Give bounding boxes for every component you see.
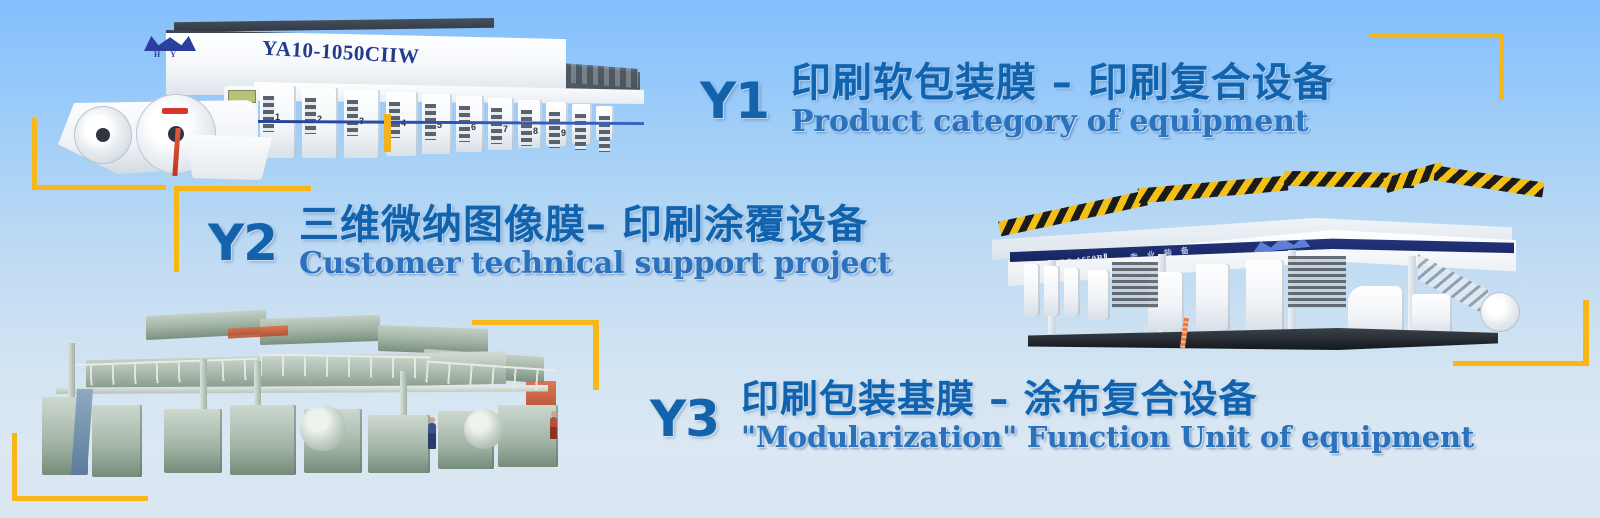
laminator-unit <box>1412 294 1452 334</box>
y3-text-column: 印刷包装基膜 – 涂布复合设备 "Modularization" Functio… <box>741 380 1474 452</box>
coater-drum <box>464 409 504 449</box>
press-roof-rail <box>174 18 494 32</box>
machine-photo-coating-line <box>28 305 573 490</box>
bracket-top-left-vertical <box>32 118 37 190</box>
laminator-unit <box>1196 264 1230 330</box>
laminator-rewind-roll <box>1480 292 1520 332</box>
laminator-unit <box>1024 264 1040 316</box>
machine-photo-laminating-machine: 专业装备 YATFG-1650BⅡ <box>988 168 1548 368</box>
press-logo-letters: HY <box>144 50 196 59</box>
y1-text-column: 印刷软包装膜 – 印刷复合设备 Product category of equi… <box>791 62 1334 138</box>
y2-chinese-headline: 三维微纳图像膜– 印刷涂覆设备 <box>299 204 891 246</box>
coater-worker <box>550 417 557 439</box>
y3-chinese-headline: 印刷包装基膜 – 涂布复合设备 <box>741 380 1474 420</box>
y2-text-column: 三维微纳图像膜– 印刷涂覆设备 Customer technical suppo… <box>299 204 891 280</box>
laminator-unit <box>1064 268 1080 316</box>
laminator-unit <box>1246 260 1284 332</box>
press-unit: 5 <box>422 94 452 154</box>
coater-section <box>368 415 430 473</box>
text-block-y1: Y1 印刷软包装膜 – 印刷复合设备 Product category of e… <box>700 62 1334 138</box>
bracket-mid-center-vertical <box>593 320 599 390</box>
bracket-top-right-horizontal <box>1370 33 1504 38</box>
press-yellow-marker <box>384 114 391 152</box>
coater-section <box>164 409 222 473</box>
laminator-roller-bank <box>1288 256 1346 308</box>
bracket-top-right-vertical <box>1499 33 1504 100</box>
coater-section <box>498 405 558 467</box>
text-block-y3: Y3 印刷包装基膜 – 涂布复合设备 "Modularization" Func… <box>650 380 1474 452</box>
coater-section <box>230 405 296 475</box>
laminator-roller-bank <box>1112 262 1158 308</box>
laminator-safety-rail <box>1434 165 1545 197</box>
laminator-unit <box>1044 266 1060 316</box>
machine-photo-printing-press: HY YA10-1050CIIW 1 2 3 4 5 6 7 8 9 <box>58 8 618 176</box>
press-material-roll <box>74 106 132 164</box>
laminator-base-frame <box>1028 328 1498 350</box>
y1-code-label: Y1 <box>700 76 769 126</box>
coater-worker <box>428 423 436 449</box>
bracket-bottom-left-vertical <box>12 433 17 501</box>
laminator-safety-rail <box>998 191 1148 237</box>
press-brand-logo: HY <box>144 36 196 62</box>
y1-chinese-headline: 印刷软包装膜 – 印刷复合设备 <box>791 62 1334 104</box>
laminator-safety-rail <box>1138 175 1289 203</box>
y3-english-subtitle: "Modularization" Function Unit of equipm… <box>741 422 1474 452</box>
bracket-top-left-horizontal <box>32 185 166 190</box>
bracket-bottom-right-vertical <box>1583 300 1589 366</box>
press-unit: 3 <box>344 90 380 158</box>
y1-english-subtitle: Product category of equipment <box>791 106 1334 138</box>
bracket-mid-left-horizontal <box>174 186 311 191</box>
promo-banner: HY YA10-1050CIIW 1 2 3 4 5 6 7 8 9 <box>0 0 1600 518</box>
press-red-detail <box>162 108 188 114</box>
press-logo-mark <box>144 36 196 51</box>
laminator-unit <box>1088 270 1110 320</box>
y3-code-label: Y3 <box>650 394 719 444</box>
bracket-bottom-left-horizontal <box>12 496 148 501</box>
text-block-y2: Y2 三维微纳图像膜– 印刷涂覆设备 Customer technical su… <box>208 204 891 280</box>
bracket-mid-left-vertical <box>174 186 179 272</box>
y2-english-subtitle: Customer technical support project <box>299 248 891 280</box>
coater-drum <box>300 405 346 451</box>
press-lower-cover <box>184 134 272 180</box>
y2-code-label: Y2 <box>208 218 277 268</box>
coater-section <box>92 405 142 477</box>
